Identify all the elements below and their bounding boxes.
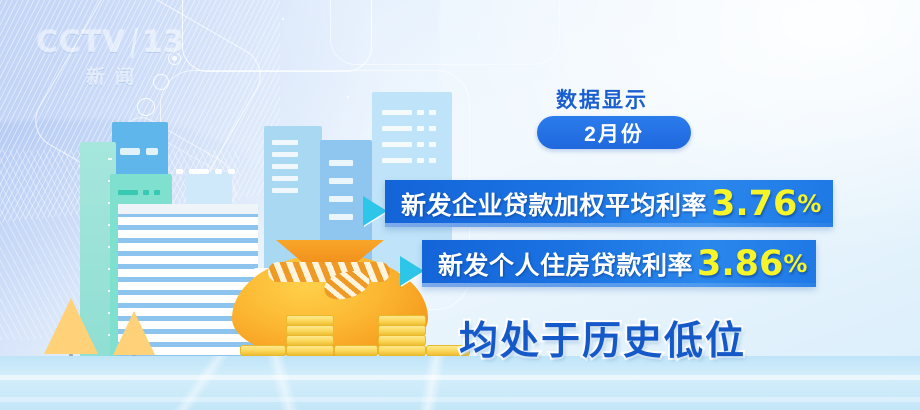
triangle-right-icon	[400, 256, 424, 286]
floor-band	[0, 375, 920, 380]
rate-bar-1: 新发企业贷款加权平均利率 3.76 %	[385, 180, 833, 227]
rate-unit-2: %	[783, 250, 807, 278]
triangle-right-icon	[363, 196, 387, 226]
conclusion-text: 均处于历史低位	[459, 310, 746, 366]
rate-label-2: 新发个人住房贷款利率	[438, 246, 693, 282]
period-badge-label: 2月份	[584, 118, 644, 148]
rate-unit-1: %	[797, 190, 821, 218]
bar-sheen	[422, 283, 816, 287]
rate-value-2: 3.86	[697, 244, 783, 284]
news-graphic-stage: CCTV 13 新闻	[0, 0, 920, 410]
floor-band	[0, 397, 920, 402]
bar-sheen	[385, 223, 833, 227]
period-badge: 2月份	[537, 116, 691, 149]
tree-icon	[44, 298, 98, 364]
building-blue-cap	[112, 122, 168, 182]
rate-label-1: 新发企业贷款加权平均利率	[401, 186, 707, 222]
kicker-label: 数据显示	[556, 84, 648, 114]
rate-bar-2: 新发个人住房贷款利率 3.86 %	[422, 240, 816, 287]
rate-value-1: 3.76	[711, 184, 797, 224]
sky-dash-marks	[176, 169, 235, 174]
